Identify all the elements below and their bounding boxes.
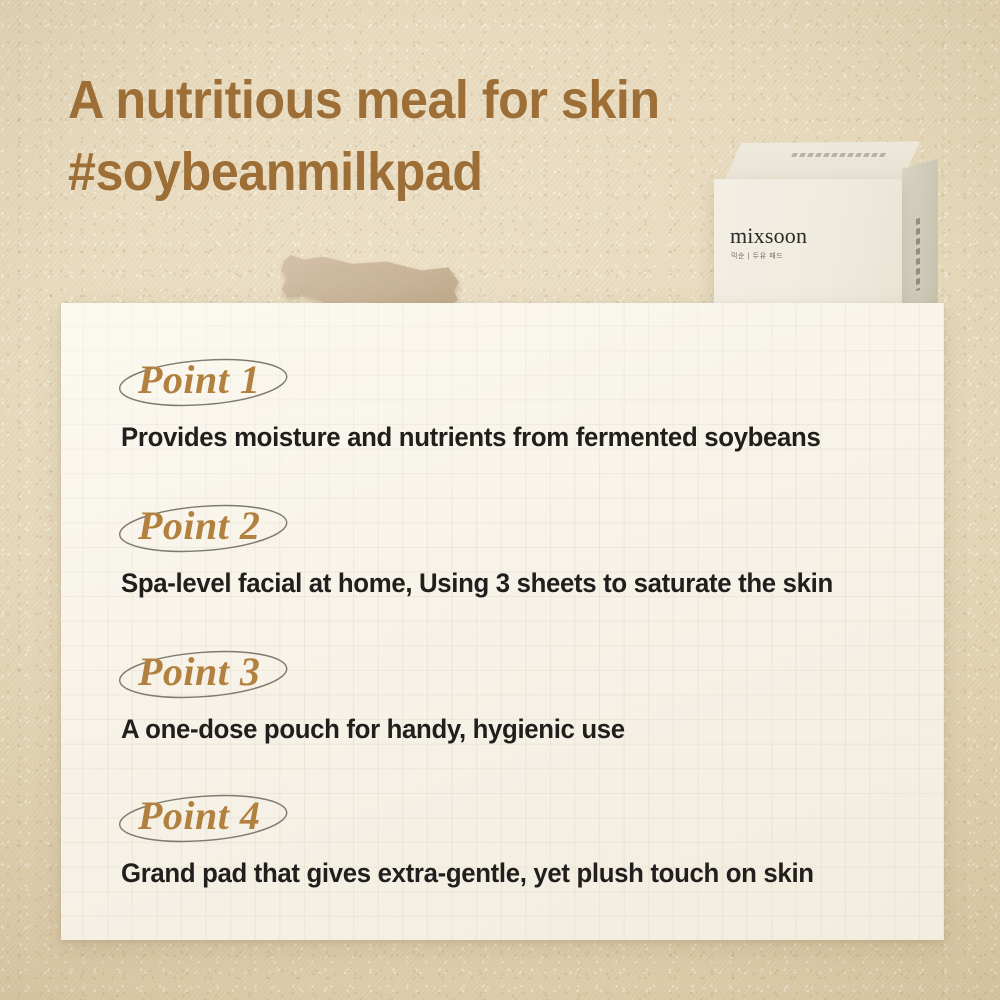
point-label-2: Point 2 (138, 503, 260, 548)
point-badge-4: Point 4 (116, 787, 290, 846)
grid-paper-card: Point 1 Provides moisture and nutrients … (61, 303, 944, 940)
point-label-3: Point 3 (138, 649, 260, 694)
points-list: Point 1 Provides moisture and nutrients … (61, 303, 944, 940)
brand-logo: mixsoon (730, 223, 807, 249)
point-label-4: Point 4 (138, 793, 260, 838)
point-badge-2: Point 2 (116, 497, 290, 556)
promo-graphic: A nutritious meal for skin #soybeanmilkp… (0, 0, 1000, 1000)
brand-korean-subtitle: 믹순 | 두유 패드 (731, 251, 783, 261)
point-text-4: Grand pad that gives extra-gentle, yet p… (121, 858, 907, 889)
point-text-1: Provides moisture and nutrients from fer… (121, 422, 907, 453)
point-item-1: Point 1 Provides moisture and nutrients … (61, 351, 944, 453)
point-item-4: Point 4 Grand pad that gives extra-gentl… (61, 787, 944, 889)
point-text-2: Spa-level facial at home, Using 3 sheets… (121, 568, 907, 599)
point-badge-1: Point 1 (116, 351, 290, 410)
headline-line-1: A nutritious meal for skin (68, 70, 660, 130)
box-side-print (916, 218, 920, 291)
point-text-3: A one-dose pouch for handy, hygienic use (121, 714, 907, 745)
headline-line-2: #soybeanmilkpad (68, 142, 482, 202)
point-item-2: Point 2 Spa-level facial at home, Using … (61, 497, 944, 599)
point-label-1: Point 1 (138, 357, 260, 402)
point-badge-3: Point 3 (116, 643, 290, 702)
point-item-3: Point 3 A one-dose pouch for handy, hygi… (61, 643, 944, 745)
box-top-print (791, 153, 889, 157)
